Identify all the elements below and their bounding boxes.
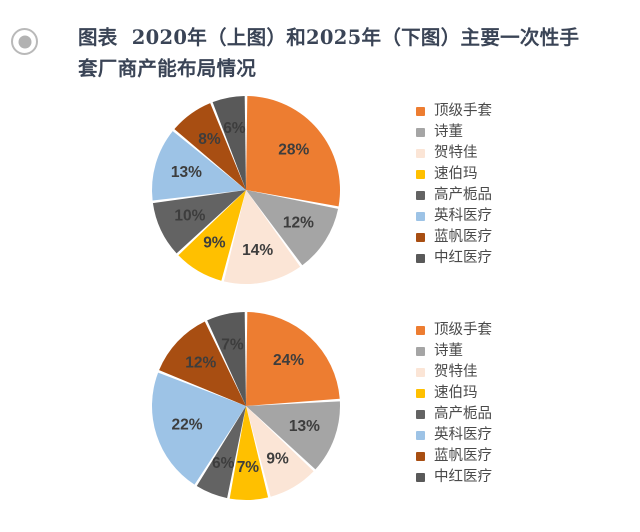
legend-swatch-icon (416, 170, 425, 179)
legend-swatch-icon (416, 212, 425, 221)
target-radio-icon (11, 28, 38, 55)
pie-slice-label: 9% (203, 234, 226, 251)
legend-swatch-icon (416, 431, 425, 440)
pie-slice-label: 7% (237, 459, 260, 476)
legend-item[interactable]: 顶级手套 (416, 101, 492, 122)
legend-item[interactable]: 诗董 (416, 122, 492, 143)
legend-item-label: 高产栀品 (434, 186, 492, 205)
legend-item-label: 诗董 (434, 123, 463, 142)
legend-item[interactable]: 蓝帆医疗 (416, 446, 492, 467)
legend-item-label: 贺特佳 (434, 144, 478, 163)
pie-slice-label: 24% (273, 352, 304, 369)
pie-svg-2025: 24%13%9%7%6%22%12%7% (148, 308, 344, 504)
legend-item[interactable]: 英科医疗 (416, 206, 492, 227)
pie-slice-label: 13% (289, 418, 320, 435)
pie-slice-label: 7% (221, 337, 244, 354)
legend-swatch-icon (416, 410, 425, 419)
legend-item-label: 英科医疗 (434, 207, 492, 226)
page-title: 图表 2020年（上图）和2025年（下图）主要一次性手 套厂商产能布局情况 (78, 22, 623, 84)
pie-chart-2025: 24%13%9%7%6%22%12%7% (148, 308, 344, 504)
legend-swatch-icon (416, 128, 425, 137)
legend-swatch-icon (416, 233, 425, 242)
legend-swatch-icon (416, 473, 425, 482)
legend-item[interactable]: 速伯玛 (416, 164, 492, 185)
pie-slice-label: 8% (198, 131, 221, 148)
legend-item[interactable]: 中红医疗 (416, 467, 492, 488)
legend-item[interactable]: 高产栀品 (416, 185, 492, 206)
pie-slice-label: 22% (171, 416, 202, 433)
legend-item-label: 蓝帆医疗 (434, 447, 492, 466)
legend-item-label: 中红医疗 (434, 249, 492, 268)
pie-slice-label: 14% (242, 242, 273, 259)
legend-item[interactable]: 高产栀品 (416, 404, 492, 425)
legend-swatch-icon (416, 191, 425, 200)
legend-item[interactable]: 贺特佳 (416, 143, 492, 164)
figure-root: 图表 2020年（上图）和2025年（下图）主要一次性手 套厂商产能布局情况 2… (0, 0, 640, 532)
legend-item-label: 贺特佳 (434, 363, 478, 382)
figure-header: 图表 2020年（上图）和2025年（下图）主要一次性手 套厂商产能布局情况 (0, 0, 640, 92)
legend-swatch-icon (416, 389, 425, 398)
pie-slice-label: 13% (171, 164, 202, 181)
legend-item-label: 英科医疗 (434, 426, 492, 445)
legend-swatch-icon (416, 149, 425, 158)
legend-swatch-icon (416, 452, 425, 461)
legend-item-label: 中红医疗 (434, 468, 492, 487)
legend-item-label: 诗董 (434, 342, 463, 361)
legend-item-label: 高产栀品 (434, 405, 492, 424)
legend-swatch-icon (416, 326, 425, 335)
pie-slice-label: 12% (283, 214, 314, 231)
pie-slice-label: 6% (223, 120, 246, 137)
pie-chart-2020: 28%12%14%9%10%13%8%6% (148, 92, 344, 288)
legend-swatch-icon (416, 347, 425, 356)
pie-svg-2020: 28%12%14%9%10%13%8%6% (148, 92, 344, 288)
legend-item[interactable]: 蓝帆医疗 (416, 227, 492, 248)
pie-slice-label: 10% (174, 207, 205, 224)
legend-item[interactable]: 中红医疗 (416, 248, 492, 269)
legend-swatch-icon (416, 254, 425, 263)
legend-item[interactable]: 诗董 (416, 341, 492, 362)
legend-item[interactable]: 英科医疗 (416, 425, 492, 446)
chart-block-2025: 24%13%9%7%6%22%12%7% 顶级手套诗董贺特佳速伯玛高产栀品英科医… (0, 300, 640, 532)
legend-item-label: 顶级手套 (434, 321, 492, 340)
legend-item-label: 顶级手套 (434, 102, 492, 121)
legend-2020: 顶级手套诗董贺特佳速伯玛高产栀品英科医疗蓝帆医疗中红医疗 (416, 101, 492, 269)
legend-swatch-icon (416, 368, 425, 377)
pie-slice-label: 6% (212, 455, 235, 472)
legend-item-label: 速伯玛 (434, 384, 478, 403)
legend-2025: 顶级手套诗董贺特佳速伯玛高产栀品英科医疗蓝帆医疗中红医疗 (416, 320, 492, 488)
legend-item[interactable]: 速伯玛 (416, 383, 492, 404)
legend-item-label: 速伯玛 (434, 165, 478, 184)
legend-item[interactable]: 贺特佳 (416, 362, 492, 383)
chart-block-2020: 28%12%14%9%10%13%8%6% 顶级手套诗董贺特佳速伯玛高产栀品英科… (0, 92, 640, 298)
pie-slice-label: 28% (278, 142, 309, 159)
legend-swatch-icon (416, 107, 425, 116)
pie-slice-label: 9% (266, 450, 289, 467)
legend-item[interactable]: 顶级手套 (416, 320, 492, 341)
pie-slice-label: 12% (185, 355, 216, 372)
legend-item-label: 蓝帆医疗 (434, 228, 492, 247)
